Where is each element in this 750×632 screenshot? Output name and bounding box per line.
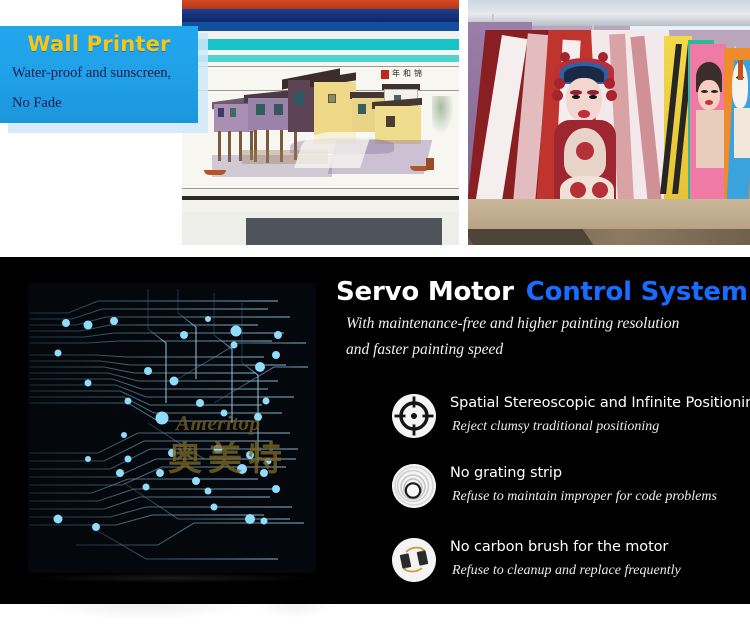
feature-title: No grating strip [450,465,562,481]
headline: Servo MotorControl System [336,277,748,307]
circuit-traces-svg [28,283,316,573]
promo-title: Wall Printer [8,30,190,58]
crosshair-target-icon [392,394,436,438]
headline-white: Servo Motor [336,277,514,307]
promo-line-1: Water-proof and sunscreen, [8,58,190,88]
concentric-rings-icon [392,464,436,508]
headline-blue: Control System [526,277,748,307]
feature-desc: Reject clumsy traditional positioning [452,419,659,435]
subtitle-line-2: and faster painting speed [346,341,503,359]
footer-shadow-right [255,604,335,618]
photo-watertown-ink-mural: 年和锦 [182,0,459,245]
feature-title: No carbon brush for the motor [450,539,668,555]
feature-desc: Refuse to maintain improper for code pro… [452,489,717,505]
circuit-board-image: Ameritop 奥美特 [28,283,316,573]
photo-opera-face-mural [468,0,750,245]
product-banner-page: 年和锦 [0,0,750,632]
servo-motor-section: Ameritop 奥美特 Servo MotorControl System W… [0,257,750,604]
circuit-shadow [28,573,316,583]
promo-banner: Wall Printer Water-proof and sunscreen, … [0,26,198,123]
promo-line-2: No Fade [8,88,190,118]
feature-desc: Refuse to cleanup and replace frequently [452,563,681,579]
feature-title: Spatial Stereoscopic and Infinite Positi… [450,395,750,411]
subtitle-line-1: With maintenance-free and higher paintin… [346,315,679,333]
footer-shadow-left [40,604,250,620]
carbon-brush-icon [392,538,436,582]
top-section: 年和锦 [0,0,750,257]
